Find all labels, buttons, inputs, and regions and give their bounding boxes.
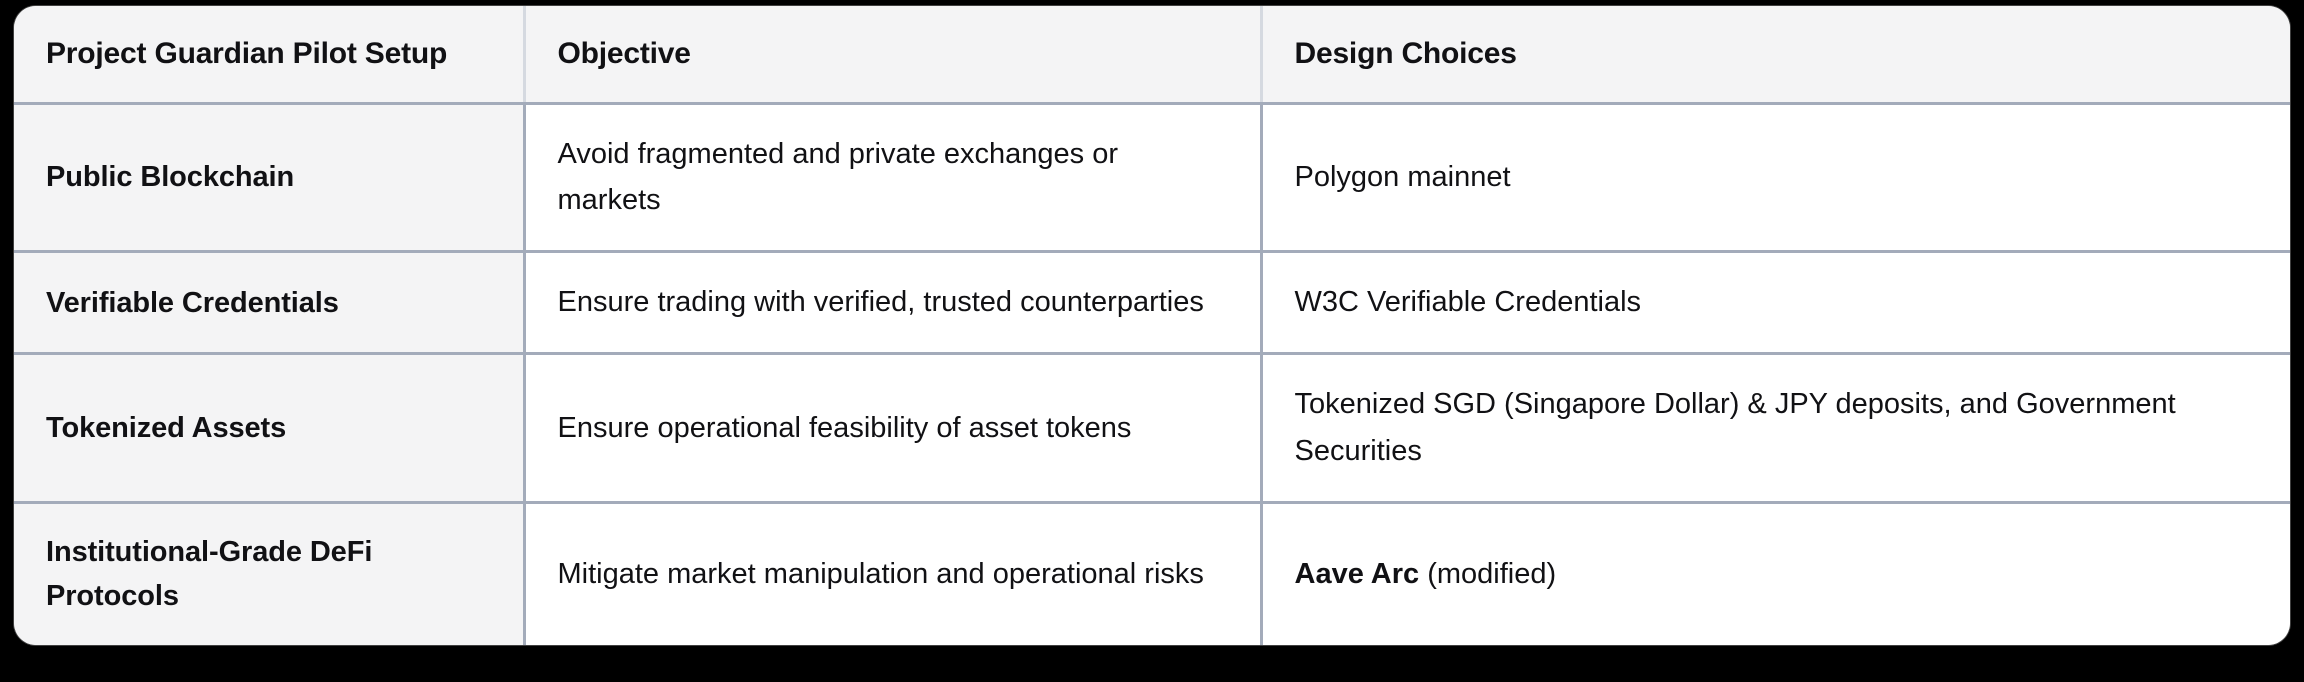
row-objective-tokenized-assets: Ensure operational feasibility of asset …	[524, 354, 1261, 503]
design-regular-text: (modified)	[1419, 558, 1556, 590]
project-guardian-pilot-setup-table: Project Guardian Pilot Setup Objective D…	[14, 6, 2290, 645]
row-design-institutional-grade-defi-protocols: Aave Arc (modified)	[1261, 503, 2290, 645]
table-card: Project Guardian Pilot Setup Objective D…	[14, 6, 2290, 645]
column-header-setup: Project Guardian Pilot Setup	[14, 6, 524, 103]
table-body: Public Blockchain Avoid fragmented and p…	[14, 103, 2290, 645]
row-label-institutional-grade-defi-protocols: Institutional-Grade DeFi Protocols	[14, 503, 524, 645]
table-header: Project Guardian Pilot Setup Objective D…	[14, 6, 2290, 103]
row-objective-public-blockchain: Avoid fragmented and private exchanges o…	[524, 103, 1261, 252]
design-regular-text: W3C Verifiable Credentials	[1295, 286, 1642, 318]
table-row: Verifiable Credentials Ensure trading wi…	[14, 252, 2290, 354]
row-design-verifiable-credentials: W3C Verifiable Credentials	[1261, 252, 2290, 354]
row-design-public-blockchain: Polygon mainnet	[1261, 103, 2290, 252]
row-objective-verifiable-credentials: Ensure trading with verified, trusted co…	[524, 252, 1261, 354]
design-regular-text: Tokenized SGD (Singapore Dollar) & JPY d…	[1295, 388, 2176, 467]
design-bold-text: Aave Arc	[1295, 558, 1420, 590]
column-header-design: Design Choices	[1261, 6, 2290, 103]
table-row: Public Blockchain Avoid fragmented and p…	[14, 103, 2290, 252]
row-label-verifiable-credentials: Verifiable Credentials	[14, 252, 524, 354]
row-design-tokenized-assets: Tokenized SGD (Singapore Dollar) & JPY d…	[1261, 354, 2290, 503]
row-objective-institutional-grade-defi-protocols: Mitigate market manipulation and operati…	[524, 503, 1261, 645]
design-regular-text: Polygon mainnet	[1295, 161, 1511, 193]
row-label-tokenized-assets: Tokenized Assets	[14, 354, 524, 503]
row-label-public-blockchain: Public Blockchain	[14, 103, 524, 252]
table-header-row: Project Guardian Pilot Setup Objective D…	[14, 6, 2290, 103]
column-header-objective: Objective	[524, 6, 1261, 103]
table-row: Tokenized Assets Ensure operational feas…	[14, 354, 2290, 503]
table-row: Institutional-Grade DeFi Protocols Mitig…	[14, 503, 2290, 645]
